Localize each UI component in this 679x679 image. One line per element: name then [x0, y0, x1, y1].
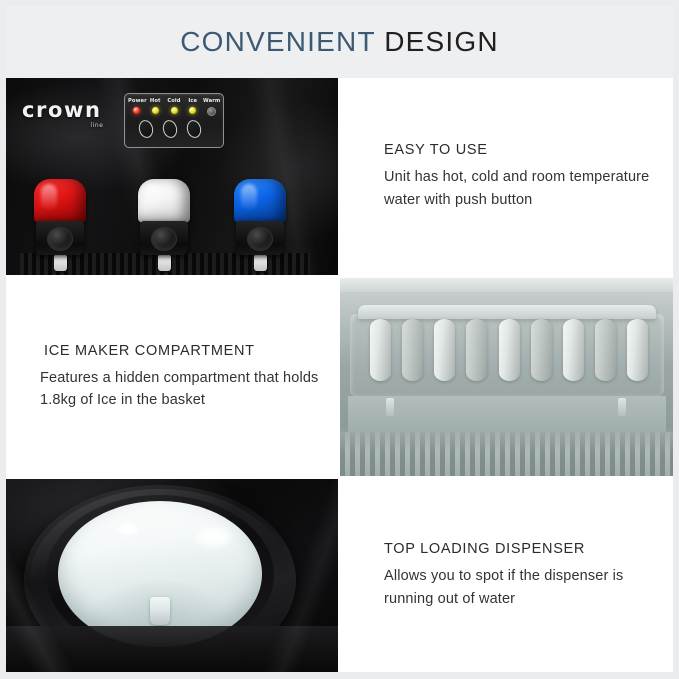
- page-title-accent: CONVENIENT: [180, 26, 375, 57]
- bowl-gloss-sheen: [6, 479, 338, 672]
- crown-brand-logo: crownline: [22, 100, 102, 121]
- feature-body-ice-maker: Features a hidden compartment that holds…: [40, 367, 320, 411]
- tap-spout-hot: [54, 255, 67, 271]
- switch-hot[interactable]: [137, 119, 155, 140]
- ice-mold: [466, 319, 487, 381]
- feature-body-easy-to-use: Unit has hot, cold and room temperature …: [384, 166, 655, 210]
- switch-cold[interactable]: [161, 119, 179, 140]
- infographic-page: CONVENIENT DESIGN crownline Power Hot Co: [0, 0, 679, 679]
- push-button-cold[interactable]: [247, 227, 273, 251]
- ice-mold: [499, 319, 520, 381]
- ice-mold: [434, 319, 455, 381]
- ice-maker-compartment-photo: [340, 278, 673, 476]
- ice-mold: [563, 319, 584, 381]
- control-label-hot: Hot: [147, 98, 164, 104]
- icemaker-image-cell: [340, 278, 673, 476]
- tap-body-hot: [36, 221, 84, 255]
- header-banner: CONVENIENT DESIGN: [6, 6, 673, 78]
- led-indicator-cold: [166, 107, 183, 116]
- page-title-rest: DESIGN: [375, 26, 499, 57]
- tap-body-room: [140, 221, 188, 255]
- ice-mold: [402, 319, 423, 381]
- tap-room-white[interactable]: [138, 179, 190, 271]
- crown-logo-subtext: line: [90, 123, 103, 129]
- feature-text-ice-maker: ICE MAKER COMPARTMENT Features a hidden …: [6, 278, 338, 476]
- control-panel-labels: Power Hot Cold Ice Warm: [128, 98, 220, 104]
- ice-mold: [627, 319, 648, 381]
- feature-text-top-loading: TOP LOADING DISPENSER Allows you to spot…: [340, 479, 673, 672]
- push-button-hot[interactable]: [47, 227, 73, 251]
- icemaker-lid: [358, 305, 656, 319]
- top-loading-dispenser-bowl-photo: [6, 479, 338, 672]
- switch-ice[interactable]: [185, 119, 203, 140]
- led-indicator-power: [128, 107, 145, 116]
- tap-spout-room: [158, 255, 171, 271]
- tap-spout-cold: [254, 255, 267, 271]
- control-label-ice: Ice: [184, 98, 201, 104]
- feature-body-top-loading: Allows you to spot if the dispenser is r…: [384, 565, 655, 609]
- feature-heading-easy-to-use: EASY TO USE: [384, 142, 655, 158]
- feature-grid: crownline Power Hot Cold Ice Warm: [6, 78, 673, 672]
- tap-cap-red: [34, 179, 86, 223]
- icemaker-clip-right: [618, 398, 626, 416]
- tap-cold-blue[interactable]: [234, 179, 286, 271]
- feature-heading-ice-maker: ICE MAKER COMPARTMENT: [44, 343, 320, 359]
- ice-mold: [531, 319, 552, 381]
- control-panel-switches[interactable]: [139, 120, 201, 138]
- dispenser-image-cell: crownline Power Hot Cold Ice Warm: [6, 78, 338, 275]
- ice-mold: [595, 319, 616, 381]
- led-indicator-hot: [147, 107, 164, 116]
- push-button-room[interactable]: [151, 227, 177, 251]
- led-indicator-ice: [184, 107, 201, 116]
- control-label-cold: Cold: [166, 98, 183, 104]
- led-indicator-warm: [203, 107, 220, 116]
- feature-text-easy-to-use: EASY TO USE Unit has hot, cold and room …: [340, 78, 673, 275]
- feature-heading-top-loading: TOP LOADING DISPENSER: [384, 541, 655, 557]
- page-title: CONVENIENT DESIGN: [180, 26, 499, 58]
- ice-mold-row: [370, 319, 648, 383]
- water-dispenser-taps-photo: crownline Power Hot Cold Ice Warm: [6, 78, 338, 275]
- icemaker-clip-left: [386, 398, 394, 416]
- ice-mold: [370, 319, 391, 381]
- bowl-image-cell: [6, 479, 338, 672]
- control-panel: Power Hot Cold Ice Warm: [124, 93, 224, 148]
- icemaker-top-edge: [340, 278, 673, 292]
- icemaker-comb-shading: [340, 432, 673, 476]
- tap-cap-white: [138, 179, 190, 223]
- control-panel-indicator-lights: [128, 107, 220, 116]
- infographic-canvas: CONVENIENT DESIGN crownline Power Hot Co: [6, 6, 673, 672]
- tap-hot-red[interactable]: [34, 179, 86, 271]
- control-label-warm: Warm: [203, 98, 220, 104]
- tap-cap-blue: [234, 179, 286, 223]
- tap-body-cold: [236, 221, 284, 255]
- crown-logo-text: crown: [22, 98, 102, 122]
- control-label-power: Power: [128, 98, 145, 104]
